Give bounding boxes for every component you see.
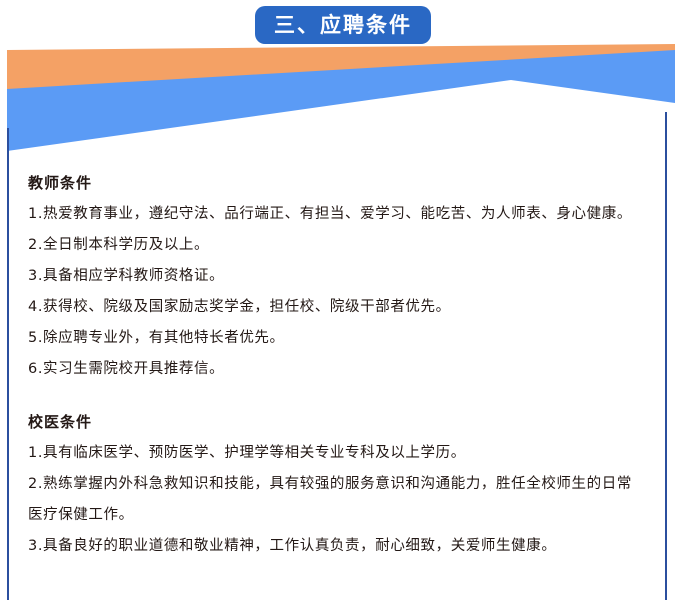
- list-item: 3.具备良好的职业道德和敬业精神，工作认真负责，耐心细致，关爱师生健康。: [28, 531, 644, 562]
- list-item: 2.全日制本科学历及以上。: [28, 230, 644, 261]
- list-item: 6.实习生需院校开具推荐信。: [28, 354, 644, 385]
- list-item: 2.熟练掌握内外科急救知识和技能，具有较强的服务意识和沟通能力，胜任全校师生的日…: [28, 469, 644, 531]
- section-title-badge: 三、应聘条件: [255, 6, 431, 44]
- section-heading-teacher: 教师条件: [28, 168, 644, 199]
- list-item: 4.获得校、院级及国家励志奖学金，担任校、院级干部者优先。: [28, 292, 644, 323]
- right-border-line: [665, 112, 667, 600]
- section-teacher-requirements: 教师条件 1.热爱教育事业，遵纪守法、品行端正、有担当、爱学习、能吃苦、为人师表…: [28, 168, 644, 385]
- list-item: 3.具备相应学科教师资格证。: [28, 261, 644, 292]
- section-title-text: 三、应聘条件: [274, 15, 412, 36]
- left-border-line: [7, 128, 9, 600]
- requirement-list-teacher: 1.热爱教育事业，遵纪守法、品行端正、有担当、爱学习、能吃苦、为人师表、身心健康…: [28, 199, 644, 385]
- list-item: 1.热爱教育事业，遵纪守法、品行端正、有担当、爱学习、能吃苦、为人师表、身心健康…: [28, 199, 644, 230]
- content-body: 教师条件 1.热爱教育事业，遵纪守法、品行端正、有担当、爱学习、能吃苦、为人师表…: [28, 168, 644, 562]
- requirement-list-school-doctor: 1.具有临床医学、预防医学、护理学等相关专业专科及以上学历。 2.熟练掌握内外科…: [28, 438, 644, 562]
- list-item: 5.除应聘专业外，有其他特长者优先。: [28, 323, 644, 354]
- list-item: 1.具有临床医学、预防医学、护理学等相关专业专科及以上学历。: [28, 438, 644, 469]
- section-school-doctor-requirements: 校医条件 1.具有临床医学、预防医学、护理学等相关专业专科及以上学历。 2.熟练…: [28, 407, 644, 562]
- page-root: 三、应聘条件 教师条件 1.热爱教育事业，遵纪守法、品行端正、有担当、爱学习、能…: [0, 0, 675, 600]
- section-heading-school-doctor: 校医条件: [28, 407, 644, 438]
